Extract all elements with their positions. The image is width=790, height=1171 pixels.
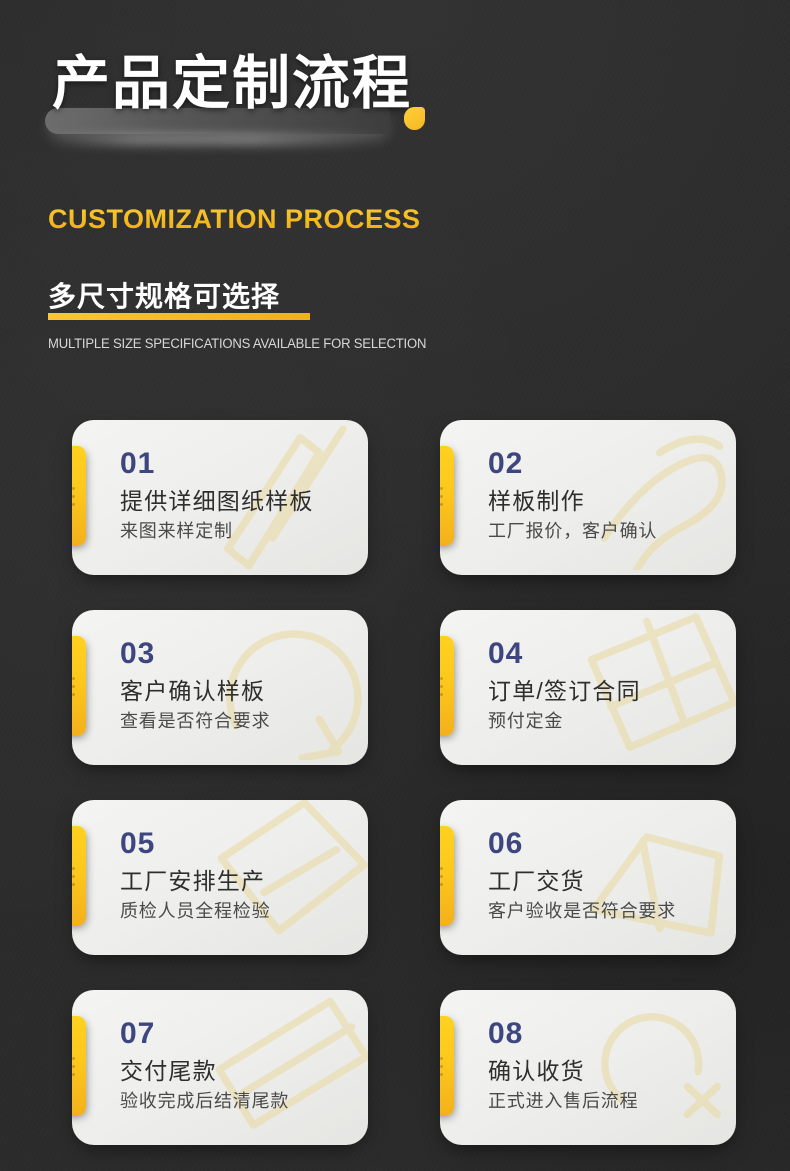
step-description: 正式进入售后流程 xyxy=(488,1091,724,1112)
step-description: 质检人员全程检验 xyxy=(120,901,356,922)
step-description: 验收完成后结清尾款 xyxy=(120,1091,356,1112)
subheading-chinese: 多尺寸规格可选择 xyxy=(48,283,280,311)
eyebrow-english-heading: CUSTOMIZATION PROCESS xyxy=(48,206,421,233)
drag-dots-icon xyxy=(440,487,443,506)
step-description: 客户验收是否符合要求 xyxy=(488,901,724,922)
step-title: 客户确认样板 xyxy=(120,679,356,705)
step-number: 08 xyxy=(488,1019,724,1049)
drag-dots-icon xyxy=(72,677,75,696)
drag-dots-icon xyxy=(72,487,75,506)
step-card: 06工厂交货客户验收是否符合要求 xyxy=(440,800,736,955)
step-title: 交付尾款 xyxy=(120,1059,356,1085)
step-tab-handle[interactable] xyxy=(440,1016,454,1116)
drag-dots-icon xyxy=(440,1057,443,1076)
step-tab-handle[interactable] xyxy=(72,826,86,926)
step-description: 预付定金 xyxy=(488,711,724,732)
step-tab-handle[interactable] xyxy=(72,636,86,736)
step-number: 01 xyxy=(120,449,356,479)
title-glow-line xyxy=(48,134,388,146)
step-number: 07 xyxy=(120,1019,356,1049)
step-number: 04 xyxy=(488,639,724,669)
subheading-underline xyxy=(48,313,310,320)
step-tab-handle[interactable] xyxy=(72,446,86,546)
step-title: 工厂安排生产 xyxy=(120,869,356,895)
step-title: 订单/签订合同 xyxy=(488,679,724,705)
step-card: 08确认收货正式进入售后流程 xyxy=(440,990,736,1145)
step-card: 05工厂安排生产质检人员全程检验 xyxy=(72,800,368,955)
step-title: 样板制作 xyxy=(488,489,724,515)
step-tab-handle[interactable] xyxy=(440,446,454,546)
drag-dots-icon xyxy=(440,867,443,886)
drag-dots-icon xyxy=(72,1057,75,1076)
step-description: 查看是否符合要求 xyxy=(120,711,356,732)
accent-dot-icon xyxy=(404,107,425,130)
step-tab-handle[interactable] xyxy=(72,1016,86,1116)
step-card: 03客户确认样板查看是否符合要求 xyxy=(72,610,368,765)
step-card: 07交付尾款验收完成后结清尾款 xyxy=(72,990,368,1145)
step-title: 提供详细图纸样板 xyxy=(120,489,356,515)
step-card-body: 08确认收货正式进入售后流程 xyxy=(488,990,724,1145)
step-card-body: 01提供详细图纸样板来图来样定制 xyxy=(120,420,356,575)
step-card-body: 03客户确认样板查看是否符合要求 xyxy=(120,610,356,765)
step-description: 来图来样定制 xyxy=(120,521,356,542)
subheading-english: MULTIPLE SIZE SPECIFICATIONS AVAILABLE F… xyxy=(48,337,426,351)
step-card-body: 06工厂交货客户验收是否符合要求 xyxy=(488,800,724,955)
step-title: 工厂交货 xyxy=(488,869,724,895)
step-card-body: 07交付尾款验收完成后结清尾款 xyxy=(120,990,356,1145)
step-card: 01提供详细图纸样板来图来样定制 xyxy=(72,420,368,575)
step-card-body: 02样板制作工厂报价，客户确认 xyxy=(488,420,724,575)
step-number: 05 xyxy=(120,829,356,859)
step-number: 03 xyxy=(120,639,356,669)
step-card-body: 04订单/签订合同预付定金 xyxy=(488,610,724,765)
page-title: 产品定制流程 xyxy=(52,55,412,113)
drag-dots-icon xyxy=(72,867,75,886)
step-card-body: 05工厂安排生产质检人员全程检验 xyxy=(120,800,356,955)
step-description: 工厂报价，客户确认 xyxy=(488,521,724,542)
step-title: 确认收货 xyxy=(488,1059,724,1085)
drag-dots-icon xyxy=(440,677,443,696)
step-number: 06 xyxy=(488,829,724,859)
step-tab-handle[interactable] xyxy=(440,826,454,926)
step-tab-handle[interactable] xyxy=(440,636,454,736)
step-card: 04订单/签订合同预付定金 xyxy=(440,610,736,765)
step-card: 02样板制作工厂报价，客户确认 xyxy=(440,420,736,575)
step-number: 02 xyxy=(488,449,724,479)
